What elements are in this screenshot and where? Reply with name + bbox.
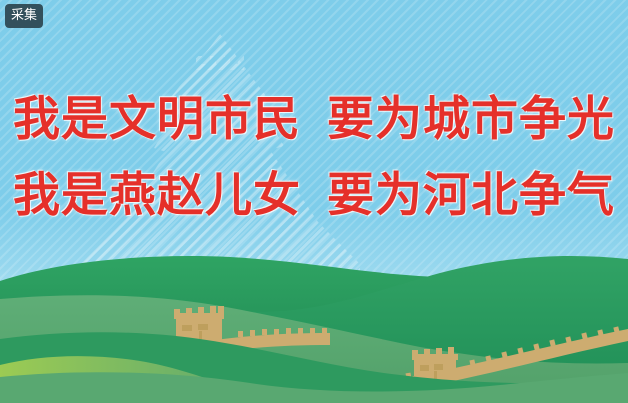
poster-canvas: 我是文明市民 要为城市争光 我是燕赵儿女 要为河北争气 采集 (0, 0, 628, 403)
slogan-line-1-right: 要为城市争光 (327, 96, 615, 143)
capture-button[interactable]: 采集 (5, 4, 43, 28)
slogan-line-2-right: 要为河北争气 (327, 172, 615, 219)
slogan-line-1-left: 我是文明市民 (13, 96, 301, 143)
slogan-line-1: 我是文明市民 要为城市争光 (0, 96, 628, 143)
slogan-line-2: 我是燕赵儿女 要为河北争气 (0, 172, 628, 219)
landscape-illustration (0, 243, 628, 403)
slogan-block: 我是文明市民 要为城市争光 我是燕赵儿女 要为河北争气 (0, 96, 628, 219)
slogan-line-2-left: 我是燕赵儿女 (13, 172, 301, 219)
